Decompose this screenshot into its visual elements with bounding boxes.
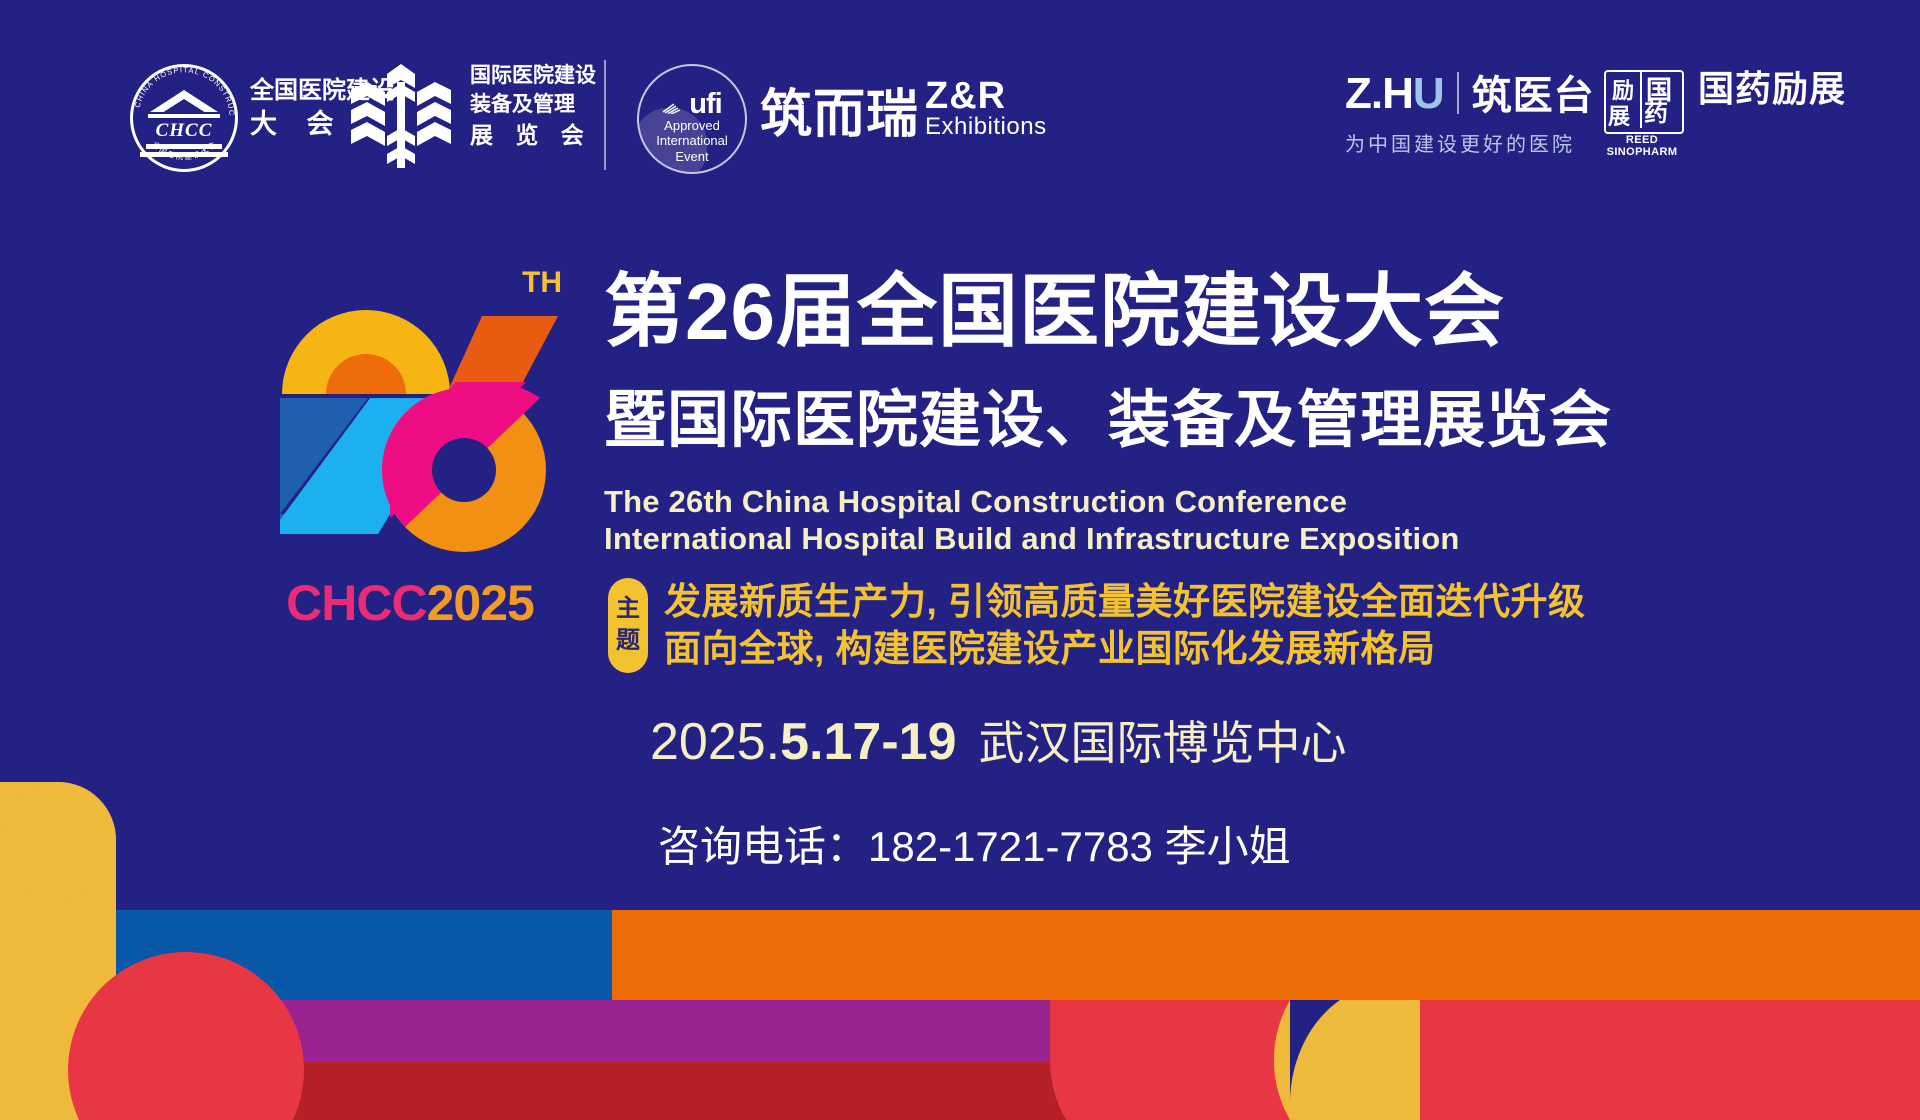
logo-divider — [604, 60, 606, 170]
ufi-line2: International — [639, 133, 745, 148]
theme-block: 主 题 发展新质生产力, 引领高质量美好医院建设全面迭代升级 面向全球, 构建医… — [608, 578, 1586, 673]
chcc2025-chcc: CHCC — [286, 575, 426, 631]
poster-canvas: CHINA HOSPITAL CONSTRUCTION CONFERENCE 全… — [0, 0, 1920, 1120]
zr-chinese-name: 筑而瑞 — [760, 89, 919, 141]
zhuyitai-logo: Z.HU 筑医台 为中国建设更好的医院 — [1345, 72, 1595, 157]
ufi-swoosh-icon — [662, 91, 688, 105]
zhu-slogan: 为中国建设更好的医院 — [1345, 128, 1595, 157]
chcc2025-wordmark: CHCC2025 — [250, 578, 570, 628]
theme-line1: 发展新质生产力, 引领高质量美好医院建设全面迭代升级 — [664, 578, 1586, 625]
chcc2025-year: 2025 — [427, 575, 534, 631]
expo-label-line3: 展 览 会 — [470, 120, 596, 152]
english-title-line1: The 26th China Hospital Construction Con… — [604, 486, 1347, 517]
reed-glyph-4: 药 — [1644, 102, 1668, 126]
expo-label-line1: 国际医院建设 — [470, 62, 596, 91]
reed-glyph-3: 展 — [1608, 106, 1630, 128]
bottom-decoration — [0, 740, 1920, 1120]
chcc-shield-icon: CHINA HOSPITAL CONSTRUCTION CONFERENCE 全… — [130, 64, 238, 172]
page-title: 第26届全国医院建设大会 — [604, 272, 1505, 352]
reed-mark-caption: REED SINOPHARM — [1600, 134, 1684, 158]
ufi-line1: Approved — [639, 118, 745, 133]
zr-en-bottom: Exhibitions — [925, 114, 1047, 139]
theme-badge-char2: 题 — [616, 625, 640, 657]
chcc-monogram: CHCC — [130, 120, 238, 142]
zhu-chinese-name: 筑医台 — [1472, 76, 1595, 116]
svg-text:TH: TH — [522, 266, 562, 299]
reed-chinese-name: 国药励展 — [1698, 70, 1846, 108]
hospital-expo-icon — [345, 62, 457, 170]
zhu-wordmark: Z.HU — [1345, 72, 1444, 116]
reed-glyph-1: 励 — [1612, 80, 1634, 102]
english-title-line2: International Hospital Build and Infrast… — [604, 523, 1460, 554]
expo-label: 国际医院建设 装备及管理 展 览 会 — [470, 62, 596, 152]
zhu-wordmark-zh: Z.H — [1345, 69, 1413, 118]
reed-seal-icon: 励 国 展 药 REED SINOPHARM — [1600, 70, 1684, 154]
expo-label-line2: 装备及管理 — [470, 91, 596, 120]
reed-sinopharm-logo: 励 国 展 药 REED SINOPHARM 国药励展 Reed Sinopha… — [1600, 70, 1846, 154]
zr-exhibitions-logo: 筑而瑞 Z&R Exhibitions — [760, 78, 1047, 141]
logo-bar: CHINA HOSPITAL CONSTRUCTION CONFERENCE 全… — [0, 0, 1920, 190]
zr-en-top: Z&R — [925, 78, 1047, 114]
ufi-approved-icon: ufi Approved International Event — [637, 64, 747, 174]
theme-badge-char1: 主 — [616, 593, 640, 625]
page-subtitle: 暨国际医院建设、装备及管理展览会 — [604, 390, 1612, 452]
zhu-wordmark-u: U — [1413, 69, 1444, 118]
theme-badge: 主 题 — [608, 578, 648, 673]
zhu-divider — [1457, 72, 1459, 114]
ufi-wordmark: ufi — [689, 88, 721, 120]
theme-line2: 面向全球, 构建医院建设产业国际化发展新格局 — [664, 625, 1586, 672]
ufi-line3: Event — [639, 149, 745, 164]
anniversary-26-logo: TH — [250, 252, 570, 572]
